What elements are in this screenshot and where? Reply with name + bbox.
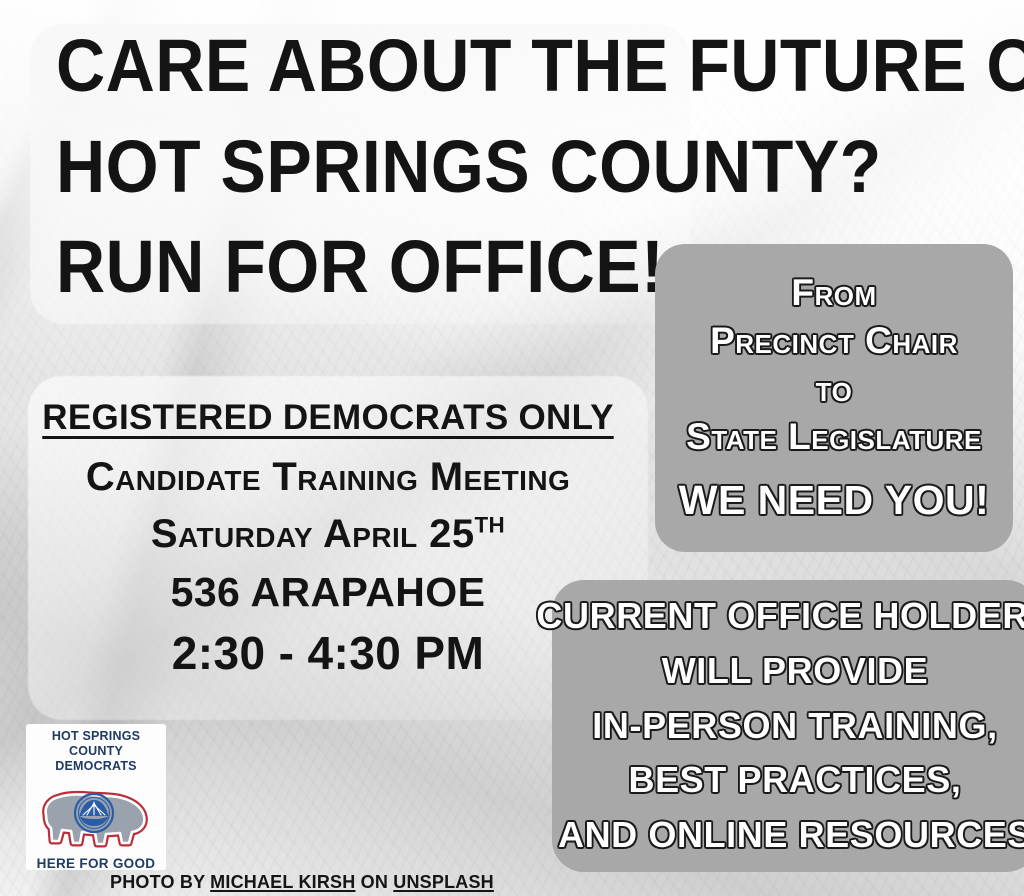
event-name-line: Candidate Training Meeting — [28, 455, 628, 500]
photo-credit-photographer[interactable]: MICHAEL KIRSH — [210, 872, 355, 892]
headline-line-2: HOT SPRINGS COUNTY? — [56, 117, 921, 218]
roles-line-1: From — [791, 269, 876, 317]
organization-logo-card: HOT SPRINGS COUNTY DEMOCRATS — [26, 724, 166, 870]
roles-line-3: to — [816, 365, 853, 413]
photo-credit-source[interactable]: UNSPLASH — [393, 872, 494, 892]
training-callout-box: CURRENT OFFICE HOLDERS WILL PROVIDE IN-P… — [552, 580, 1024, 872]
poster-canvas: CARE ABOUT THE FUTURE OF HOT SPRINGS COU… — [0, 0, 1024, 896]
roles-line-4: State Legislature — [686, 413, 982, 461]
photo-credit-middle: ON — [361, 872, 388, 892]
logo-org-line-1: HOT SPRINGS COUNTY — [26, 729, 166, 759]
eligibility-line: REGISTERED DEMOCRATS ONLY — [28, 398, 628, 438]
roles-call-to-action: WE NEED YOU! — [679, 474, 990, 527]
event-date-ordinal: TH — [474, 513, 505, 538]
training-line-2: WILL PROVIDE — [662, 644, 929, 699]
wyoming-bison-seal-icon — [32, 775, 160, 855]
roles-callout-box: From Precinct Chair to State Legislature… — [655, 244, 1013, 552]
headline-line-1: CARE ABOUT THE FUTURE OF — [56, 16, 921, 117]
training-line-4: BEST PRACTICES, — [628, 753, 961, 808]
event-date-line: Saturday April 25TH — [28, 512, 628, 557]
photo-credit-prefix: PHOTO BY — [110, 872, 205, 892]
photo-credit: PHOTO BY MICHAEL KIRSH ON UNSPLASH — [110, 872, 494, 893]
roles-line-2: Precinct Chair — [710, 317, 958, 365]
logo-org-line-2: DEMOCRATS — [55, 759, 136, 774]
event-date-text: Saturday April 25 — [151, 512, 475, 556]
logo-tagline: HERE FOR GOOD — [37, 856, 156, 872]
training-line-5: AND ONLINE RESOURCES — [558, 808, 1024, 863]
training-line-1: CURRENT OFFICE HOLDERS — [536, 589, 1024, 644]
training-line-3: IN-PERSON TRAINING, — [592, 699, 997, 754]
